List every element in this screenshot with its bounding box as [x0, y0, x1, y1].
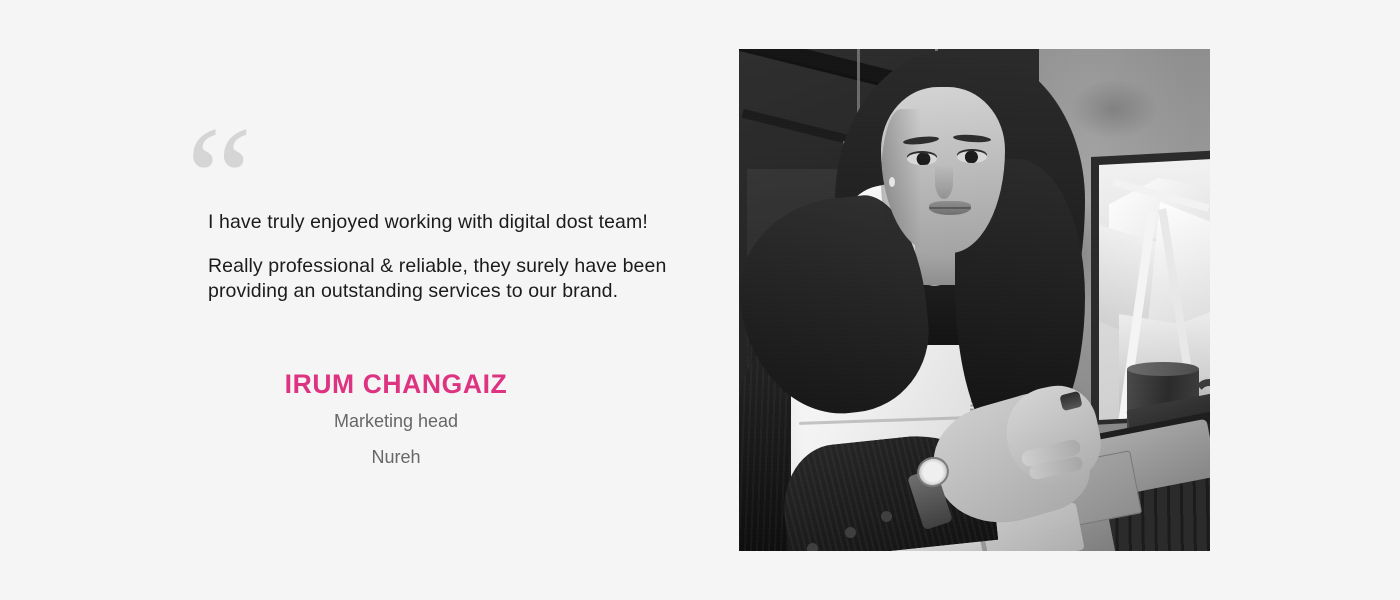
author-company: Nureh	[96, 444, 696, 470]
photo-sleeve-button-2	[845, 527, 856, 538]
author-name: IRUM CHANGAIZ	[96, 368, 696, 400]
photo-mug-rim	[1127, 362, 1199, 376]
testimonial-photo	[739, 49, 1210, 551]
attribution-block: IRUM CHANGAIZ Marketing head Nureh	[96, 368, 696, 470]
quote-line-2: Really professional & reliable, they sur…	[208, 254, 700, 304]
photo-face-shadow	[881, 109, 921, 249]
photo-earring	[889, 177, 895, 187]
photo-sleeve-button-1	[807, 543, 818, 551]
author-role: Marketing head	[96, 408, 696, 434]
testimonial-slide: “ I have truly enjoyed working with digi…	[0, 0, 1400, 600]
photo-lip-line	[929, 207, 971, 209]
photo-nose	[935, 165, 953, 199]
photo-eye-left	[907, 153, 937, 165]
photo-eye-right	[957, 151, 987, 163]
photo-sleeve-button-3	[881, 511, 892, 522]
quote-text: I have truly enjoyed working with digita…	[208, 208, 700, 304]
testimonial-block: “ I have truly enjoyed working with digi…	[0, 0, 720, 600]
quote-line-1: I have truly enjoyed working with digita…	[208, 208, 700, 236]
photo-wall-texture-1	[1069, 79, 1159, 139]
